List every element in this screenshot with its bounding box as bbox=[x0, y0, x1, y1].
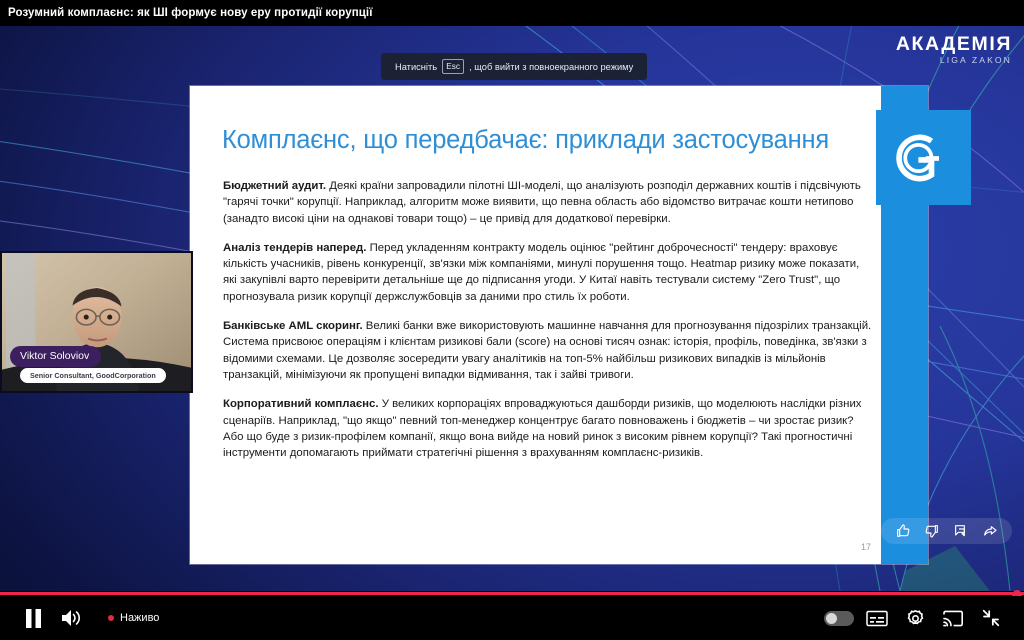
slide-body: Бюджетний аудит. Деякі країни запровадил… bbox=[223, 178, 873, 474]
paragraph-lead: Банківське AML скоринг. bbox=[223, 320, 363, 332]
subtitles-button[interactable] bbox=[858, 599, 896, 637]
controls-left-group: Наживо bbox=[0, 599, 159, 637]
volume-button[interactable] bbox=[52, 599, 90, 637]
comment-icon[interactable] bbox=[953, 523, 969, 539]
slide-paragraph: Банківське AML скоринг. Великі банки вже… bbox=[223, 318, 873, 383]
speaker-role-badge: Senior Consultant, GoodCorporation bbox=[20, 368, 166, 383]
video-stage[interactable]: Комплаєнс, що передбачає: приклади засто… bbox=[0, 26, 1024, 591]
live-dot-icon bbox=[108, 615, 114, 621]
speaker-name-badge: Viktor Soloviov bbox=[10, 346, 101, 367]
esc-key-badge: Esc bbox=[442, 59, 464, 74]
paragraph-lead: Аналіз тендерів наперед. bbox=[223, 242, 366, 254]
dislike-icon[interactable] bbox=[924, 523, 940, 539]
brand-logo: АКАДЕМІЯ LIGA ZAKON bbox=[896, 34, 1012, 66]
cg-monogram-icon bbox=[876, 110, 971, 205]
player-controls: Наживо bbox=[0, 596, 1024, 640]
slide-title: Комплаєнс, що передбачає: приклади засто… bbox=[222, 126, 882, 155]
autoplay-toggle[interactable] bbox=[820, 599, 858, 637]
pause-button[interactable] bbox=[14, 599, 52, 637]
paragraph-lead: Бюджетний аудит. bbox=[223, 180, 326, 192]
slide-paragraph: Бюджетний аудит. Деякі країни запровадил… bbox=[223, 178, 873, 227]
slide-paragraph: Корпоративний комплаєнс. У великих корпо… bbox=[223, 396, 873, 461]
reaction-bar[interactable] bbox=[881, 518, 1012, 544]
share-icon[interactable] bbox=[982, 523, 998, 539]
cast-button[interactable] bbox=[934, 599, 972, 637]
video-player: Розумний комплаєнс: як ШІ формує нову ер… bbox=[0, 0, 1024, 640]
window-title-bar: Розумний комплаєнс: як ШІ формує нову ер… bbox=[0, 0, 1024, 26]
presentation-slide: Комплаєнс, що передбачає: приклади засто… bbox=[190, 86, 928, 564]
settings-button[interactable] bbox=[896, 599, 934, 637]
autoplay-switch-icon[interactable] bbox=[824, 611, 854, 626]
brand-secondary-text: LIGA ZAKON bbox=[896, 55, 1012, 66]
live-indicator[interactable]: Наживо bbox=[108, 612, 159, 624]
toast-prefix: Натисніть bbox=[395, 62, 437, 72]
exit-fullscreen-button[interactable] bbox=[972, 599, 1010, 637]
slide-paragraph: Аналіз тендерів наперед. Перед укладення… bbox=[223, 240, 873, 305]
brand-primary-text: АКАДЕМІЯ bbox=[896, 34, 1012, 54]
controls-right-group bbox=[820, 599, 1024, 637]
slide-number: 17 bbox=[861, 542, 871, 552]
like-icon[interactable] bbox=[895, 523, 911, 539]
exit-fullscreen-toast: Натисніть Esc , щоб вийти з повноекранно… bbox=[381, 53, 647, 80]
paragraph-lead: Корпоративний комплаєнс. bbox=[223, 398, 379, 410]
toast-suffix: , щоб вийти з повноекранного режиму bbox=[469, 62, 633, 72]
speaker-webcam-thumbnail[interactable]: Viktor Soloviov Senior Consultant, GoodC… bbox=[0, 251, 193, 393]
live-label: Наживо bbox=[120, 612, 159, 624]
page-title: Розумний комплаєнс: як ШІ формує нову ер… bbox=[0, 7, 373, 19]
progress-fill bbox=[0, 592, 1024, 595]
